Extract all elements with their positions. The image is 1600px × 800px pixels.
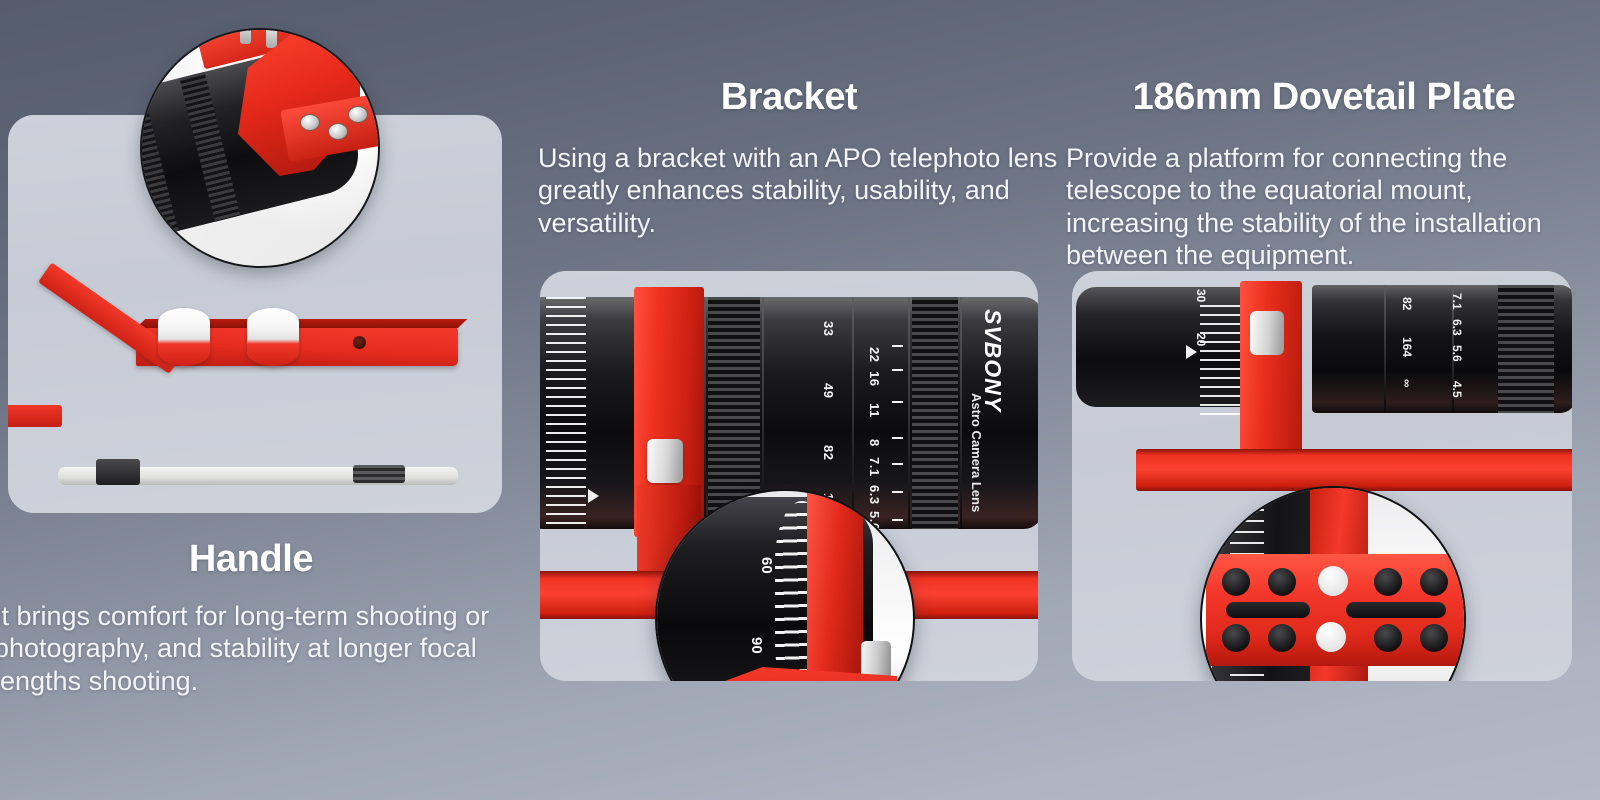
r-distance-82: 82	[1400, 297, 1414, 310]
handle-title: Handle	[0, 538, 502, 581]
closeup-pin-b	[266, 28, 277, 48]
aperture-63: 6.3	[867, 485, 882, 505]
lens-front-ticks	[1200, 305, 1244, 421]
dovetail-plate-closeup-inset	[1200, 486, 1466, 681]
focus-degree-60: 60	[758, 557, 775, 574]
closeup-dovetail-plate	[1206, 554, 1466, 666]
distance-scale-82: 82	[821, 445, 836, 460]
lens-divider-5	[960, 297, 962, 529]
handle-thumb-knob-1	[158, 308, 210, 366]
lens-front-index	[1186, 345, 1197, 359]
plate-hole-2	[1268, 568, 1296, 596]
dovetail-bracket-arm	[1240, 281, 1302, 467]
focus-degree-90: 90	[748, 637, 765, 654]
closeup-screw-c	[348, 106, 368, 123]
aperture-tick-6	[892, 491, 903, 493]
lens-subtitle-label: Astro Camera Lens	[969, 393, 984, 512]
plate-hole-1	[1222, 568, 1250, 596]
handle-description: It brings comfort for long-term shooting…	[0, 600, 502, 697]
lens-front-section	[1076, 287, 1256, 407]
bracket-title: Bracket	[540, 76, 1038, 119]
handle-mount-closeup-inset	[140, 28, 380, 268]
r-aperture-56: 5.6	[1450, 345, 1464, 362]
dovetail-plate-rail	[1136, 449, 1572, 491]
rail-block-left	[96, 459, 140, 485]
r-aperture-63: 6.3	[1450, 319, 1464, 336]
closeup-pin-a	[240, 28, 251, 44]
focus-ring-ticks	[546, 297, 586, 529]
dovetail-description: Provide a platform for connecting the te…	[1066, 142, 1594, 272]
lens-divider-4	[908, 297, 910, 529]
bracket-lock-knob	[647, 439, 683, 483]
closeup-screw-a	[300, 114, 320, 131]
plate-hole-white-2	[1316, 622, 1346, 652]
plate-hole-8	[1420, 624, 1448, 652]
closeup-lens-ring-b	[179, 72, 240, 222]
aperture-11: 11	[867, 403, 882, 418]
r-aperture-45: 4.5	[1450, 381, 1464, 398]
plate-slot-left	[1226, 602, 1310, 618]
plate-hole-6	[1268, 624, 1296, 652]
distance-scale-49: 49	[821, 383, 836, 398]
distance-scale-33: 33	[821, 321, 836, 336]
aperture-71: 7.1	[867, 457, 882, 477]
aperture-tick-3	[892, 401, 903, 403]
handle-plate-hole	[353, 336, 366, 349]
plate-hole-3	[1374, 568, 1402, 596]
plate-hole-5	[1222, 624, 1250, 652]
lens-divider-1	[704, 297, 706, 529]
plate-slot-right	[1346, 602, 1446, 618]
plate-hole-4	[1420, 568, 1448, 596]
focus-degree-30: 30	[1194, 289, 1208, 302]
closeup-lock-knob	[861, 641, 891, 679]
aperture-22: 22	[867, 347, 882, 362]
closeup-screw-b	[328, 123, 348, 140]
r-lens-knurl	[1498, 285, 1554, 413]
aperture-tick-5	[892, 463, 903, 465]
aperture-tick-1	[892, 345, 903, 347]
handle-foot	[8, 405, 62, 427]
closeup-lens-ring-a	[140, 87, 178, 237]
r-distance-164: 164	[1400, 337, 1414, 357]
r-distance-inf: ∞	[1400, 379, 1414, 388]
focus-index-triangle	[588, 489, 599, 503]
plate-hole-white-1	[1318, 566, 1348, 596]
aperture-8: 8	[867, 439, 882, 447]
dovetail-lock-knob	[1250, 311, 1284, 355]
r-lens-divider-1	[1384, 285, 1386, 413]
closeup-red-bracket-arm	[807, 489, 863, 681]
aperture-tick-2	[892, 369, 903, 371]
handle-thumb-knob-2	[247, 308, 299, 366]
plate-hole-7	[1374, 624, 1402, 652]
dovetail-title: 186mm Dovetail Plate	[1064, 76, 1584, 119]
aperture-tick-4	[892, 437, 903, 439]
focus-degree-20: 20	[1194, 333, 1208, 346]
aperture-tick-7	[892, 519, 903, 521]
dovetail-product-card: 30 20 82 164 ∞ 7.1 6.3 5.6 4.5	[1072, 271, 1572, 681]
lens-grip-ring	[912, 297, 958, 529]
bracket-product-card: 33 49 82 164 ∞ 22 16 11 8 7.1 6.3 5.6 4.…	[540, 271, 1038, 681]
aperture-16: 16	[867, 371, 882, 386]
lens-rear-section: 82 164 ∞ 7.1 6.3 5.6 4.5	[1312, 285, 1572, 413]
rail-block-right	[353, 465, 405, 483]
r-aperture-71: 7.1	[1450, 293, 1464, 310]
bracket-description: Using a bracket with an APO telephoto le…	[538, 142, 1058, 239]
